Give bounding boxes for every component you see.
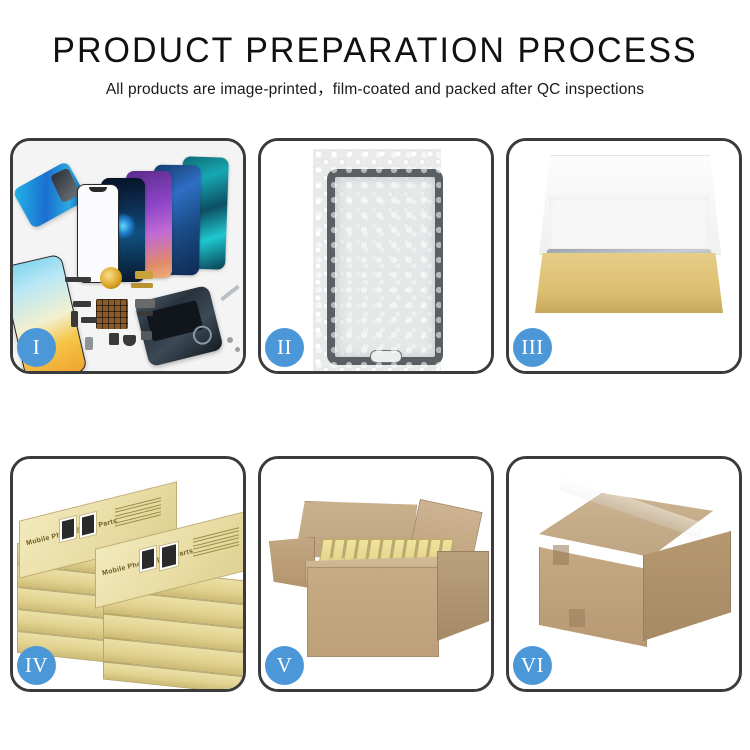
- step-badge-3: III: [513, 328, 552, 367]
- screw-part-1: [227, 337, 233, 343]
- product-preparation-infographic: PRODUCT PREPARATION PROCESS All products…: [0, 0, 750, 750]
- step-badge-6: VI: [513, 646, 552, 685]
- wrapped-screen: [327, 169, 443, 365]
- page-subtitle: All products are image-printed，film-coat…: [0, 79, 750, 101]
- page-title: PRODUCT PREPARATION PROCESS: [11, 30, 739, 72]
- gold-flex-part: [131, 283, 153, 288]
- speaker-part: [123, 335, 136, 346]
- kraft-box-tray: [535, 253, 723, 313]
- vibrator-part: [141, 331, 152, 340]
- wireless-coil-part: [100, 267, 122, 289]
- process-step-panel-4[interactable]: Mobile Phone Spare Parts Mobile Phone Sp…: [10, 456, 246, 692]
- box-window-a1: [59, 515, 77, 543]
- flex-cable-part: [65, 277, 91, 282]
- process-step-panel-1[interactable]: I: [10, 138, 246, 374]
- bubble-wrap-field: [313, 149, 441, 371]
- step-badge-5: V: [265, 646, 304, 685]
- button-part: [109, 333, 119, 345]
- small-flex-part: [73, 301, 91, 307]
- sim-tray-part: [85, 337, 93, 350]
- camera-module-part: [135, 299, 155, 308]
- process-step-panel-5[interactable]: V: [258, 456, 494, 692]
- antenna-part: [137, 311, 153, 316]
- carton-mark-2: [569, 609, 585, 627]
- box-window-b2: [159, 541, 179, 572]
- process-step-panel-2[interactable]: II: [258, 138, 494, 374]
- header: PRODUCT PREPARATION PROCESS All products…: [0, 30, 750, 101]
- process-step-panel-3[interactable]: III: [506, 138, 742, 374]
- screw-part-2: [235, 347, 240, 352]
- connector-part: [71, 311, 78, 327]
- carton-side-face: [437, 551, 489, 641]
- process-step-panel-6[interactable]: VI: [506, 456, 742, 692]
- gold-connector-part: [135, 271, 153, 279]
- carton-mark-1: [553, 545, 569, 565]
- step-badge-1: I: [17, 328, 56, 367]
- carton-front-face: [307, 567, 439, 657]
- step-badge-2: II: [265, 328, 304, 367]
- process-step-grid: I II III: [10, 138, 742, 692]
- step-badge-4: IV: [17, 646, 56, 685]
- ribbon-part: [81, 317, 97, 323]
- box-window-a2: [79, 511, 97, 539]
- chip-array-part: [96, 299, 128, 329]
- box-window-b1: [139, 545, 157, 573]
